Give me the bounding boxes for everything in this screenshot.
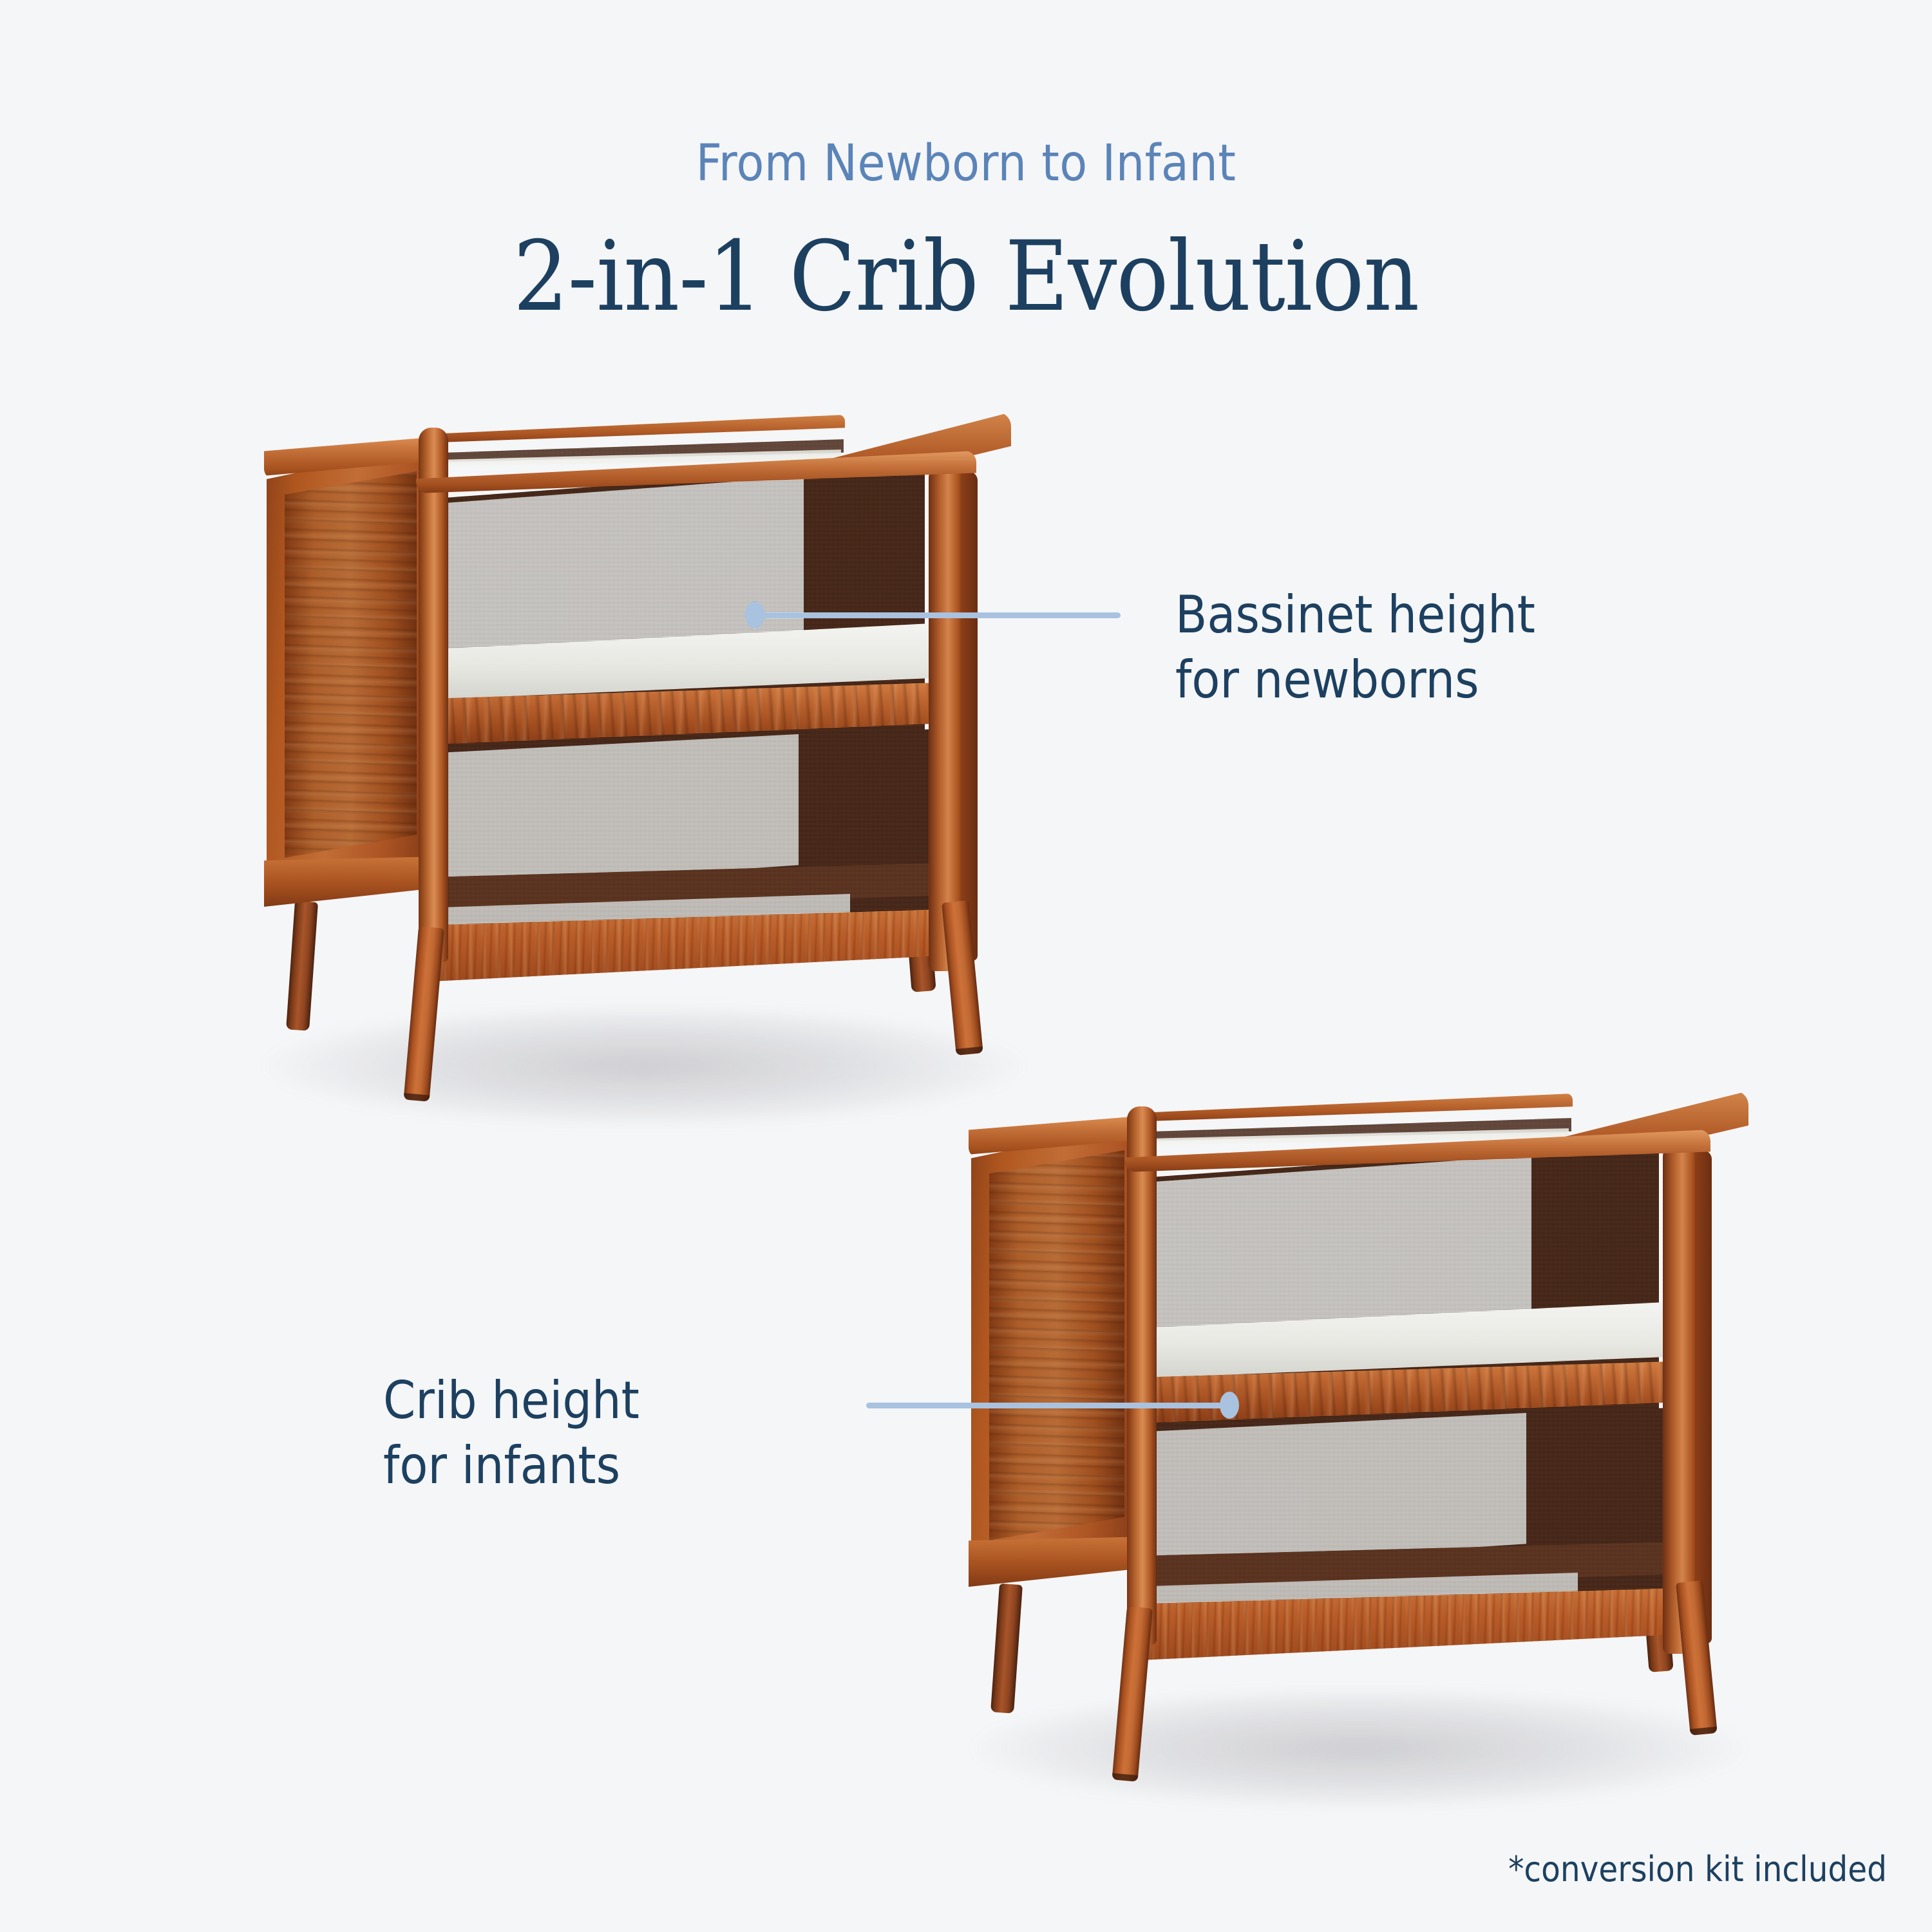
crib-crib-height-image [953, 1088, 1790, 1797]
crib-lower-front-mesh-panel [438, 734, 799, 890]
crib-left-bottom-rail [264, 857, 439, 907]
callout-bassinet-dot [745, 601, 764, 629]
callout-crib-dot [1220, 1392, 1239, 1419]
crib-floor-shadow [972, 1687, 1745, 1810]
crib-back-top-rail [1128, 1094, 1573, 1122]
crib-front-right-post-edge [1695, 1150, 1712, 1643]
crib-lower-front-mesh-panel [1146, 1413, 1526, 1569]
callout-bassinet-label: Bassinet height for newborns [1175, 583, 1535, 713]
crib-front-left-post [1127, 1106, 1157, 1645]
crib-bassinet-height-image [245, 412, 1043, 1121]
crib-left-panel-inner [285, 471, 417, 858]
crib-front-right-post-edge [961, 471, 978, 961]
crib-back-top-rail [420, 415, 845, 443]
callout-crib-leader-line [866, 1403, 1227, 1408]
callout-crib-label: Crib height for infants [383, 1368, 815, 1499]
crib-front-left-post [419, 428, 448, 962]
eyebrow-text: From Newborn to Infant [0, 138, 1932, 189]
page-title: 2-in-1 Crib Evolution [0, 229, 1932, 325]
callout-bassinet-leader-line [764, 612, 1121, 618]
crib-floor-shadow [264, 1005, 1024, 1127]
crib-left-panel-inner [989, 1150, 1124, 1540]
crib-left-bottom-rail [969, 1537, 1148, 1587]
footnote: *conversion kit included [1508, 1852, 1887, 1887]
